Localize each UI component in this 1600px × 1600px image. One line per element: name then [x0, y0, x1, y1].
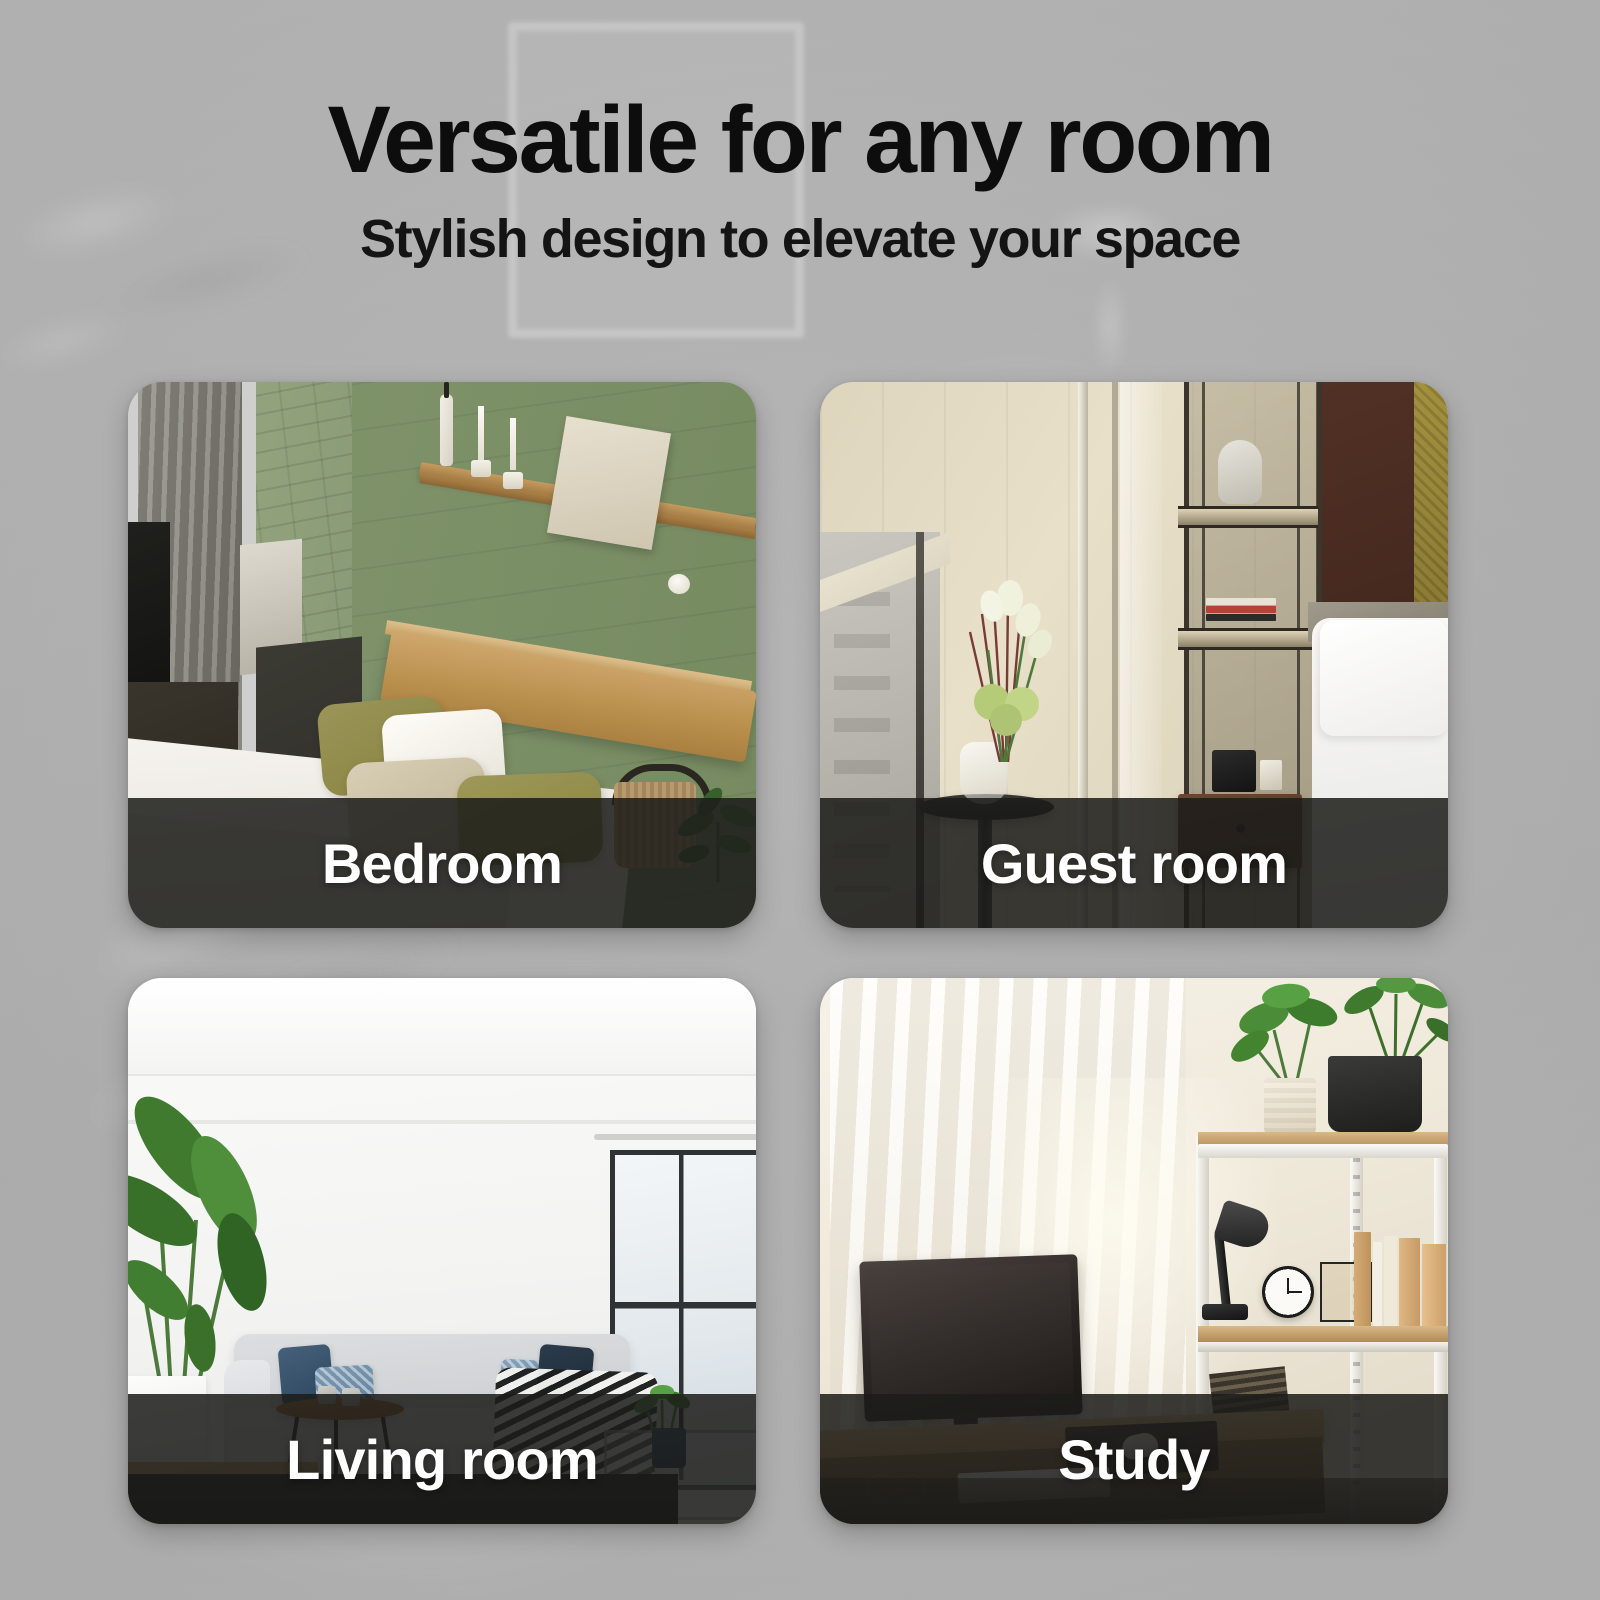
room-card-bedroom[interactable]: Bedroom: [128, 382, 756, 928]
room-card-label-guest-room: Guest room: [820, 798, 1448, 928]
room-card-grid: Bedroom: [128, 382, 1448, 1524]
black-plant-pot: [1328, 1056, 1422, 1132]
flower-arrangement-icon: [930, 562, 1080, 762]
shelf-board: [1178, 628, 1318, 650]
notepad-icon: [1260, 760, 1282, 790]
room-card-study[interactable]: Study: [820, 978, 1448, 1524]
white-plant-pot: [1264, 1078, 1316, 1136]
page-subtitle: Stylish design to elevate your space: [0, 211, 1600, 268]
stone-vase-icon: [1218, 440, 1262, 504]
candle-icon: [478, 406, 484, 460]
shelf-board: [1178, 506, 1318, 528]
promo-banner: Versatile for any room Stylish design to…: [0, 0, 1600, 1600]
header-block: Versatile for any room Stylish design to…: [0, 92, 1600, 268]
desk-lamp-base: [1202, 1304, 1248, 1320]
room-card-label-living-room: Living room: [128, 1394, 756, 1524]
curtain-rod: [594, 1134, 756, 1140]
room-card-living-room[interactable]: Living room: [128, 978, 756, 1524]
canvas-artwork-icon: [547, 416, 671, 550]
page-title: Versatile for any room: [0, 92, 1600, 189]
clock-hand: [1288, 1291, 1302, 1293]
candle-holder-icon: [503, 472, 523, 489]
candle-icon: [510, 418, 516, 470]
shelf-board: [1198, 1326, 1448, 1342]
room-card-label-bedroom: Bedroom: [128, 798, 756, 928]
shelf-rail: [1198, 1144, 1448, 1158]
monitor-screen: [868, 1263, 1075, 1412]
book-stack-icon: [1206, 598, 1276, 624]
phone-icon: [1212, 750, 1256, 792]
shelf-rail: [1198, 1342, 1448, 1352]
window-icon: [128, 522, 170, 702]
white-pillow: [1320, 620, 1448, 736]
book-row-icon: [1354, 1230, 1448, 1328]
room-card-guest-room[interactable]: Guest room: [820, 382, 1448, 928]
bottle-vase-icon: [440, 394, 453, 466]
room-card-label-study: Study: [820, 1394, 1448, 1524]
candle-holder-icon: [471, 460, 491, 477]
